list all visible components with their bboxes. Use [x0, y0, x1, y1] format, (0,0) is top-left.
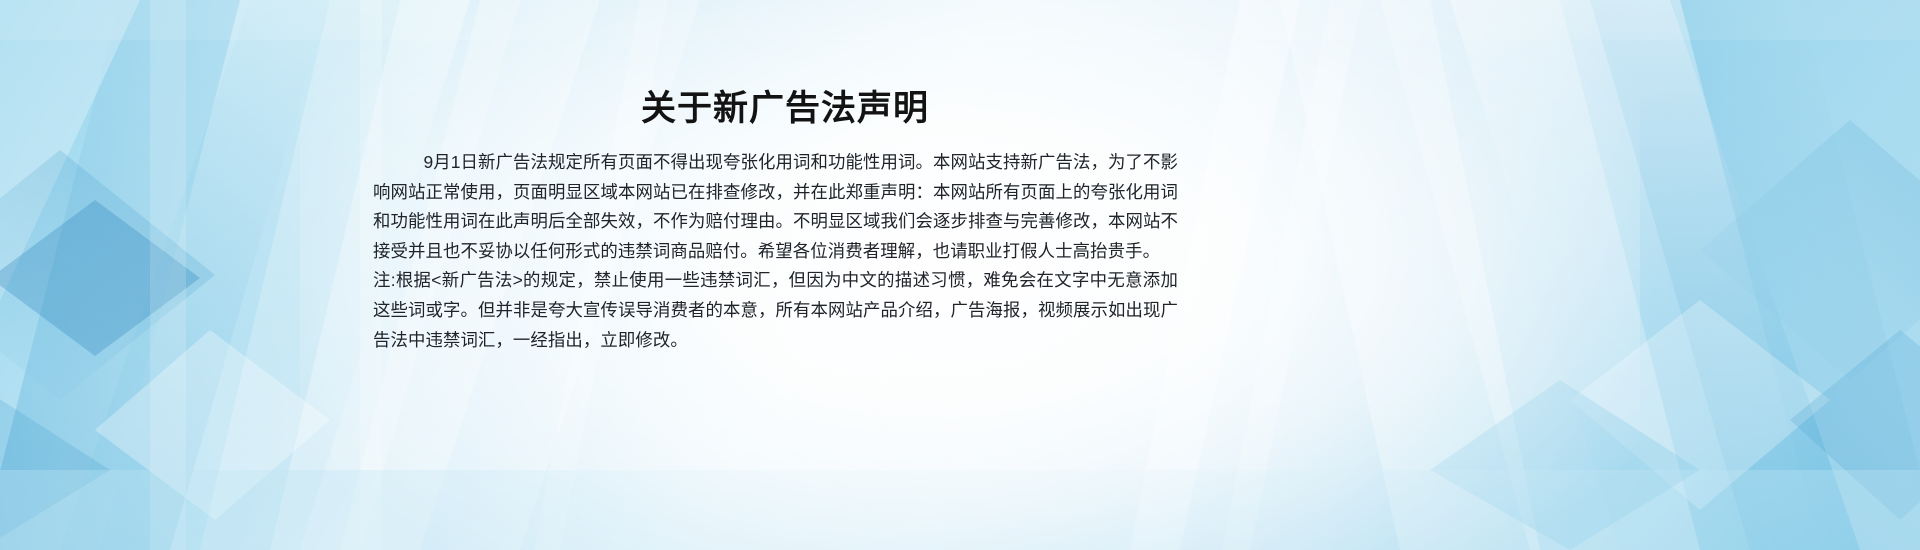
- statement-content: 关于新广告法声明 9月1日新广告法规定所有页面不得出现夸张化用词和功能性用词。本…: [0, 0, 1920, 550]
- statement-paragraph-1: 9月1日新广告法规定所有页面不得出现夸张化用词和功能性用词。本网站支持新广告法，…: [373, 148, 1178, 266]
- statement-body: 9月1日新广告法规定所有页面不得出现夸张化用词和功能性用词。本网站支持新广告法，…: [373, 148, 1178, 355]
- statement-paragraph-2: 注:根据<新广告法>的规定，禁止使用一些违禁词汇，但因为中文的描述习惯，难免会在…: [373, 266, 1178, 355]
- advertising-law-statement-banner: 关于新广告法声明 9月1日新广告法规定所有页面不得出现夸张化用词和功能性用词。本…: [0, 0, 1920, 550]
- page-title: 关于新广告法声明: [0, 88, 1570, 130]
